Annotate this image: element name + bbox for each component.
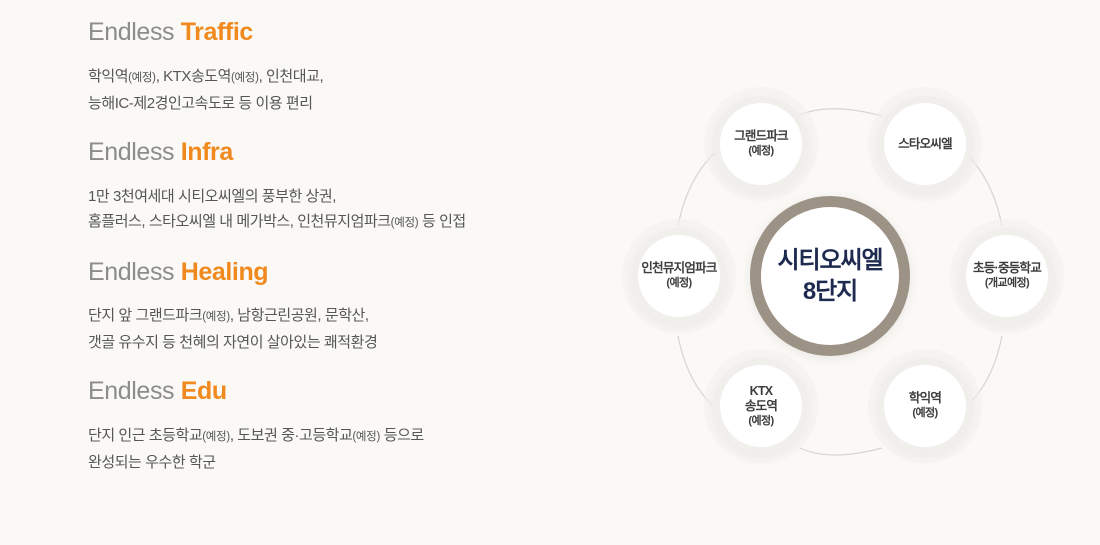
location-hub-diagram: 시티오씨엘 8단지 그랜드파크 (예정) 스타오씨엘 인천뮤지엄파크 (예정) <box>610 58 1070 488</box>
node-label-schools: 초등·중등학교 (개교예정) <box>966 261 1048 291</box>
node-label-staroscl: 스타오씨엘 <box>898 137 952 152</box>
feature-heading-traffic: Endless Traffic <box>88 18 588 47</box>
feature-desc-line: 학익역(예정), KTX송도역(예정), 인천대교, <box>88 64 588 91</box>
feature-heading-accent: Traffic <box>181 18 253 46</box>
node-label-line: 학익역 <box>909 391 941 406</box>
feature-block-traffic: Endless Traffic 학익역(예정), KTX송도역(예정), 인천대… <box>88 18 588 116</box>
feature-heading-prefix: Endless <box>88 18 174 46</box>
node-hakik-station: 학익역 (예정) <box>877 358 973 454</box>
feature-heading-accent: Infra <box>181 138 233 166</box>
feature-block-healing: Endless Healing 단지 앞 그랜드파크(예정), 남항근린공원, … <box>88 258 588 356</box>
feature-desc-line: 홈플러스, 스타오씨엘 내 메가박스, 인천뮤지엄파크(예정) 등 인접 <box>88 209 588 236</box>
feature-list: Endless Traffic 학익역(예정), KTX송도역(예정), 인천대… <box>88 18 588 475</box>
feature-heading-infra: Endless Infra <box>88 138 588 167</box>
node-label-sub: (개교예정) <box>966 276 1048 291</box>
feature-desc-line: 갯골 유수지 등 천혜의 자연이 살아있는 쾌적환경 <box>88 330 588 355</box>
feature-desc-line: 단지 인근 초등학교(예정), 도보권 중·고등학교(예정) 등으로 <box>88 423 588 450</box>
node-grandpark: 그랜드파크 (예정) <box>713 96 809 192</box>
node-incheon-museum-park: 인천뮤지엄파크 (예정) <box>631 228 727 324</box>
node-staroscl: 스타오씨엘 <box>877 96 973 192</box>
hub-node-cityoscl: 시티오씨엘 8단지 <box>750 196 910 356</box>
feature-desc-line: 능해IC-제2경인고속도로 등 이용 편리 <box>88 91 588 116</box>
arc-ktx-museum <box>678 336 718 410</box>
node-label-sub: (예정) <box>734 144 788 159</box>
feature-desc-line: 1만 3천여세대 시티오씨엘의 풍부한 상권, <box>88 184 588 209</box>
arc-hakik-ktx <box>800 448 882 455</box>
feature-heading-healing: Endless Healing <box>88 258 588 287</box>
feature-desc-line: 단지 앞 그랜드파크(예정), 남항근린공원, 문학산, <box>88 303 588 330</box>
feature-block-infra: Endless Infra 1만 3천여세대 시티오씨엘의 풍부한 상권, 홈플… <box>88 138 588 236</box>
node-label-line: 송도역 <box>745 399 777 414</box>
node-label-line: 스타오씨엘 <box>898 137 952 152</box>
hub-label-line1: 시티오씨엘 <box>778 247 883 274</box>
node-ktx-songdo-station: KTX 송도역 (예정) <box>713 358 809 454</box>
hub-label-line2: 8단지 <box>778 276 883 307</box>
node-label-incheon-museum-park: 인천뮤지엄파크 (예정) <box>638 261 720 291</box>
feature-heading-accent: Edu <box>181 377 227 405</box>
node-label-grandpark: 그랜드파크 (예정) <box>734 129 788 159</box>
node-label-line: KTX <box>745 384 777 399</box>
feature-block-edu: Endless Edu 단지 인근 초등학교(예정), 도보권 중·고등학교(예… <box>88 377 588 475</box>
arc-museum-grandpark <box>678 150 718 226</box>
node-label-sub: (예정) <box>745 414 777 429</box>
node-label-line: 인천뮤지엄파크 <box>638 261 720 276</box>
feature-heading-prefix: Endless <box>88 377 174 405</box>
hub-label: 시티오씨엘 8단지 <box>778 245 883 307</box>
node-label-line: 초등·중등학교 <box>966 261 1048 276</box>
node-label-hakik-station: 학익역 (예정) <box>909 391 941 421</box>
arc-grandpark-staroscl <box>800 109 882 116</box>
feature-heading-prefix: Endless <box>88 258 174 286</box>
node-label-ktx-songdo-station: KTX 송도역 (예정) <box>745 384 777 429</box>
node-label-sub: (예정) <box>638 276 720 291</box>
promo-page: Endless Traffic 학익역(예정), KTX송도역(예정), 인천대… <box>0 0 1100 545</box>
feature-desc-infra: 1만 3천여세대 시티오씨엘의 풍부한 상권, 홈플러스, 스타오씨엘 내 메가… <box>88 184 588 236</box>
feature-heading-prefix: Endless <box>88 138 174 166</box>
feature-desc-line: 완성되는 우수한 학군 <box>88 450 588 475</box>
feature-heading-edu: Endless Edu <box>88 377 588 406</box>
feature-desc-edu: 단지 인근 초등학교(예정), 도보권 중·고등학교(예정) 등으로 완성되는 … <box>88 423 588 475</box>
node-label-sub: (예정) <box>909 406 941 421</box>
node-label-line: 그랜드파크 <box>734 129 788 144</box>
feature-desc-traffic: 학익역(예정), KTX송도역(예정), 인천대교, 능해IC-제2경인고속도로… <box>88 64 588 116</box>
node-schools: 초등·중등학교 (개교예정) <box>959 228 1055 324</box>
feature-heading-accent: Healing <box>181 258 269 286</box>
feature-desc-healing: 단지 앞 그랜드파크(예정), 남항근린공원, 문학산, 갯골 유수지 등 천혜… <box>88 303 588 355</box>
